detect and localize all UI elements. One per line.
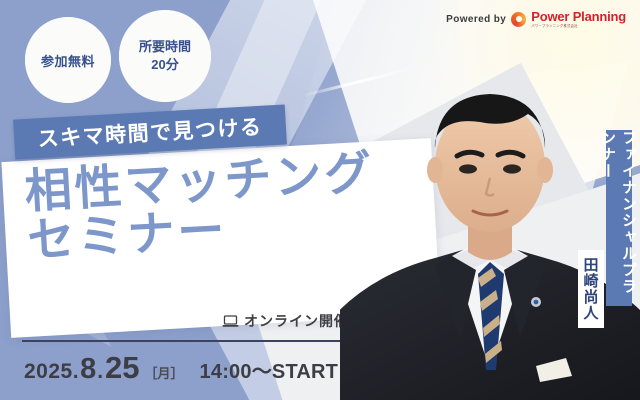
badge-duration-label: 所要時間 20分 xyxy=(139,38,191,73)
powered-by-label: Powered by xyxy=(446,14,506,25)
badge-free-participation: 参加無料 xyxy=(25,17,111,103)
event-day-of-week: ［月］ xyxy=(145,363,184,382)
event-month: 8 xyxy=(80,353,96,386)
event-year: 2025. xyxy=(24,360,79,384)
event-day: 25 xyxy=(105,350,139,386)
badge-free-label: 参加無料 xyxy=(41,51,95,70)
page-title: 相性マッチング セミナー xyxy=(24,150,379,264)
headline-ribbon-label: スキマ時間で見つける xyxy=(37,111,263,154)
swirl-icon xyxy=(511,12,526,27)
seminar-banner: Powered by Power Planning パワープランニング株式会社 … xyxy=(0,0,640,400)
divider xyxy=(22,340,356,342)
online-notice: オンライン開催 xyxy=(222,311,349,331)
presenter-name-label: 田崎尚人 xyxy=(581,257,602,321)
presenter-illustration xyxy=(340,70,640,400)
presenter-role: ファイナンシャルプランナー xyxy=(606,130,632,306)
presenter-photo: ファイナンシャルプランナー 田崎尚人 xyxy=(340,70,640,400)
online-notice-label: オンライン開催 xyxy=(244,311,349,331)
brand-company: パワープランニング株式会社 xyxy=(531,25,577,28)
event-time: 14:00〜START xyxy=(200,355,339,384)
presenter-role-label: ファイナンシャルプランナー xyxy=(598,130,640,306)
presenter-name: 田崎尚人 xyxy=(578,250,604,328)
brand-text: Power Planning パワープランニング株式会社 xyxy=(531,10,626,28)
brand-name: Power Planning xyxy=(531,10,626,23)
laptop-icon xyxy=(222,315,239,328)
badge-duration-line1: 所要時間 xyxy=(139,39,191,54)
badge-duration: 所要時間 20分 xyxy=(119,10,211,102)
event-date: 2025. 8 . 25 ［月］ 14:00〜START xyxy=(24,350,338,386)
badge-duration-line2: 20分 xyxy=(151,57,178,72)
event-separator: . xyxy=(97,360,103,384)
brand-logo: Powered by Power Planning パワープランニング株式会社 xyxy=(446,10,626,28)
